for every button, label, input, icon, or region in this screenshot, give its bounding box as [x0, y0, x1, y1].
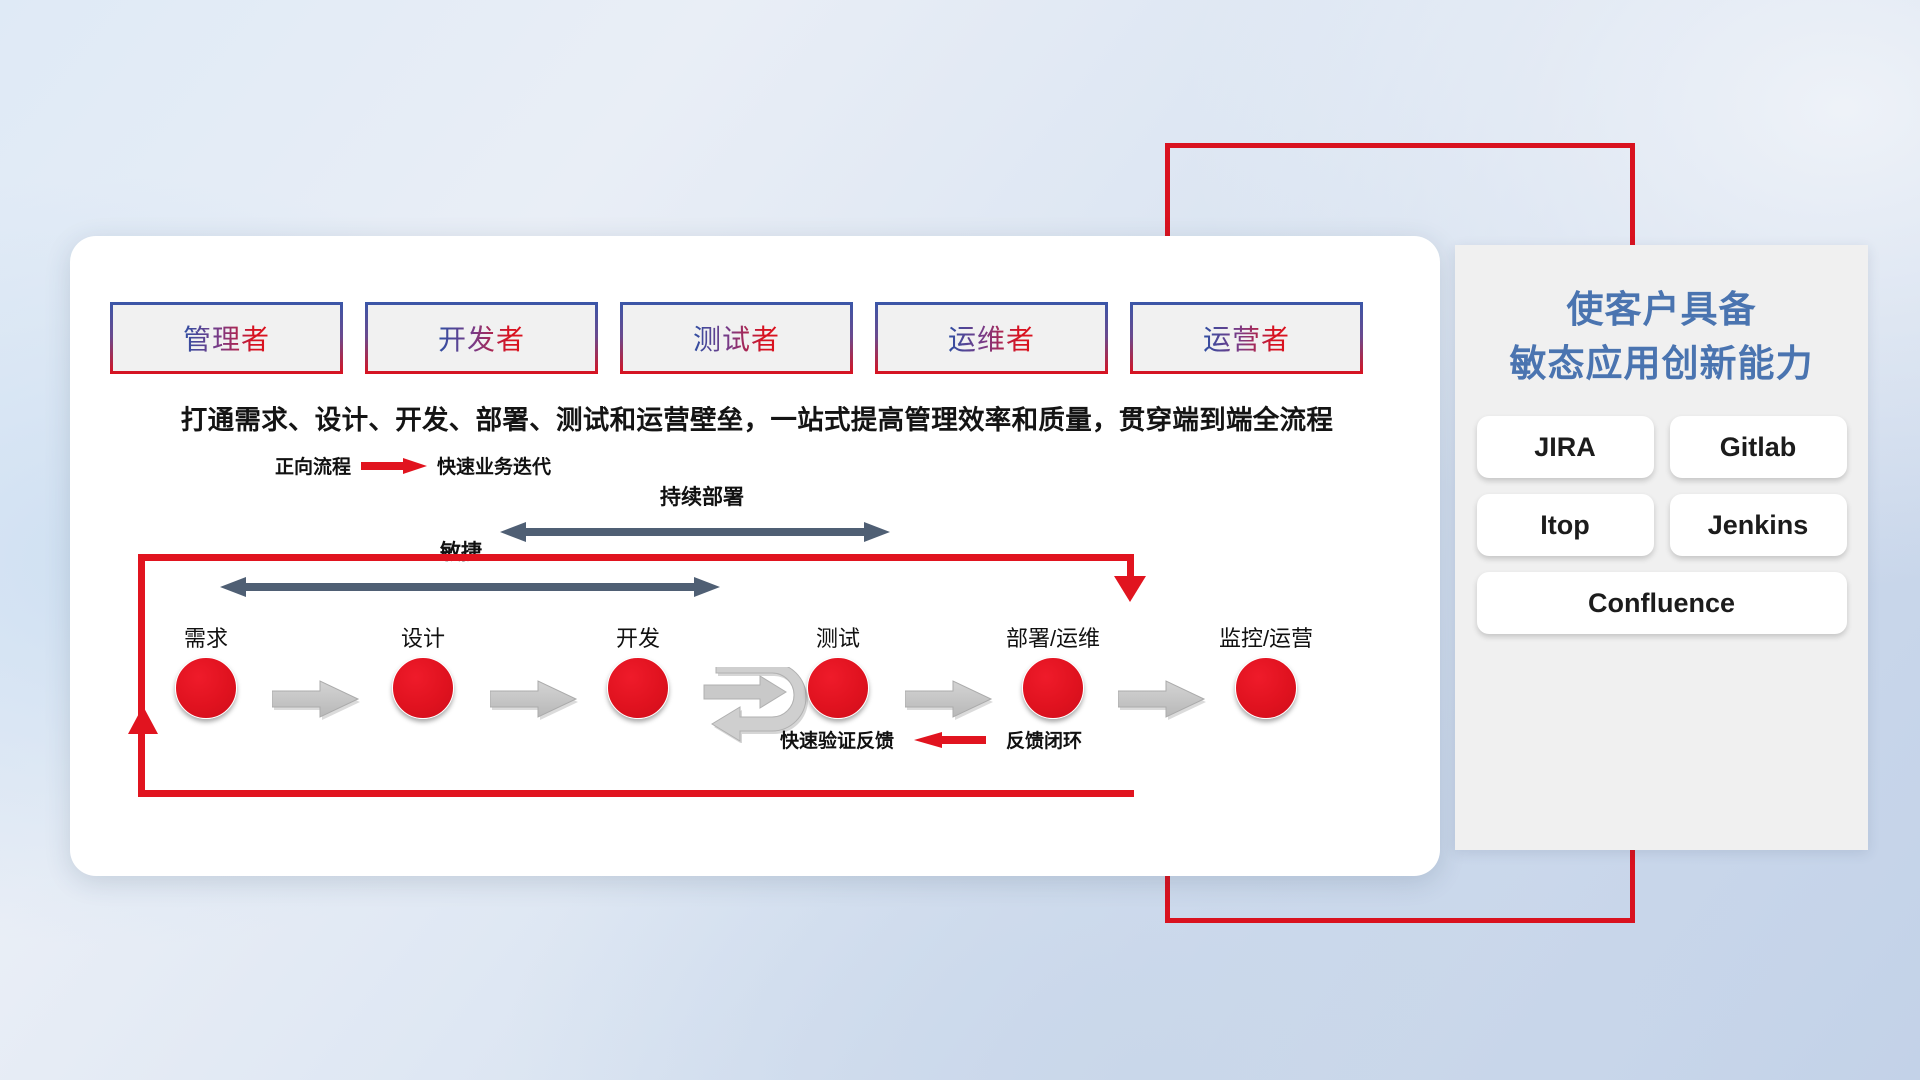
flow-node-label: 设计 [375, 621, 471, 653]
red-left-arrow-icon [914, 730, 986, 750]
role-label: 开发者 [438, 318, 525, 358]
gray-arrow-3-icon [905, 679, 995, 725]
flow-node-label: 需求 [158, 621, 254, 653]
role-label: 管理者 [183, 318, 270, 358]
role-box-manager[interactable]: 管理者 [110, 302, 343, 374]
flow-node-monitor-operations[interactable]: 监控/运营 [1218, 621, 1314, 719]
process-flow: 需求 设计 开发 [100, 621, 1420, 781]
legend-feedback-right-label: 反馈闭环 [1006, 726, 1082, 753]
tool-chip-itop[interactable]: Itop [1477, 494, 1654, 556]
flow-node-dot [1235, 657, 1297, 719]
flow-node-dot [1022, 657, 1084, 719]
flow-node-development[interactable]: 开发 [590, 621, 686, 719]
tool-chip-gitlab[interactable]: Gitlab [1670, 416, 1847, 478]
flow-node-label: 测试 [790, 621, 886, 653]
flow-node-label: 开发 [590, 621, 686, 653]
legend-feedback-loop: 快速验证反馈 反馈闭环 [780, 726, 1082, 753]
role-box-inner: 运营者 [1133, 305, 1360, 371]
value-panel: 使客户具备 敏态应用创新能力 JIRA Gitlab Itop Jenkins … [1455, 245, 1868, 850]
tool-list: JIRA Gitlab Itop Jenkins Confluence [1455, 416, 1868, 634]
role-box-inner: 管理者 [113, 305, 340, 371]
panel-title-line2: 敏态应用创新能力 [1455, 337, 1868, 391]
panel-title: 使客户具备 敏态应用创新能力 [1455, 283, 1868, 390]
role-box-inner: 测试者 [623, 305, 850, 371]
flow-node-testing[interactable]: 测试 [790, 621, 886, 719]
panel-title-line1: 使客户具备 [1455, 283, 1868, 337]
role-box-tester[interactable]: 测试者 [620, 302, 853, 374]
main-card: 管理者 开发者 测试者 运维者 运营者 [70, 236, 1440, 876]
slide-stage: 管理者 开发者 测试者 运维者 运营者 [0, 0, 1920, 1080]
flow-node-dot [807, 657, 869, 719]
role-box-inner: 运维者 [878, 305, 1105, 371]
legend-forward-left-label: 正向流程 [275, 452, 351, 479]
role-box-row: 管理者 开发者 测试者 运维者 运营者 [110, 302, 1363, 374]
role-label: 运维者 [948, 318, 1035, 358]
band-label-continuous-deployment: 持续部署 [660, 481, 744, 511]
role-label: 测试者 [693, 318, 780, 358]
flow-node-dot [607, 657, 669, 719]
flow-node-dot [392, 657, 454, 719]
flow-node-requirements[interactable]: 需求 [158, 621, 254, 719]
role-box-operations[interactable]: 运维者 [875, 302, 1108, 374]
role-box-developer[interactable]: 开发者 [365, 302, 598, 374]
gray-arrow-1-icon [272, 679, 362, 725]
legend-forward-right-label: 快速业务迭代 [437, 452, 551, 479]
legend-feedback-left-label: 快速验证反馈 [780, 726, 894, 753]
continuous-deployment-double-arrow [500, 521, 890, 543]
flow-node-label: 部署/运维 [968, 621, 1138, 653]
flow-node-deploy-ops[interactable]: 部署/运维 [1005, 621, 1101, 719]
role-box-business[interactable]: 运营者 [1130, 302, 1363, 374]
gray-arrow-4-icon [1118, 679, 1208, 725]
legend-forward-flow: 正向流程 快速业务迭代 [275, 452, 551, 479]
flow-node-label: 监控/运营 [1181, 621, 1351, 653]
flow-node-design[interactable]: 设计 [375, 621, 471, 719]
gray-arrow-2-icon [490, 679, 580, 725]
tool-chip-confluence[interactable]: Confluence [1477, 572, 1847, 634]
role-label: 运营者 [1203, 318, 1290, 358]
tool-chip-jenkins[interactable]: Jenkins [1670, 494, 1847, 556]
red-right-arrow-icon [361, 456, 427, 476]
role-box-inner: 开发者 [368, 305, 595, 371]
description-text: 打通需求、设计、开发、部署、测试和运营壁垒，一站式提高管理效率和质量，贯穿端到端… [112, 398, 1402, 437]
flow-node-dot [175, 657, 237, 719]
tool-chip-jira[interactable]: JIRA [1477, 416, 1654, 478]
